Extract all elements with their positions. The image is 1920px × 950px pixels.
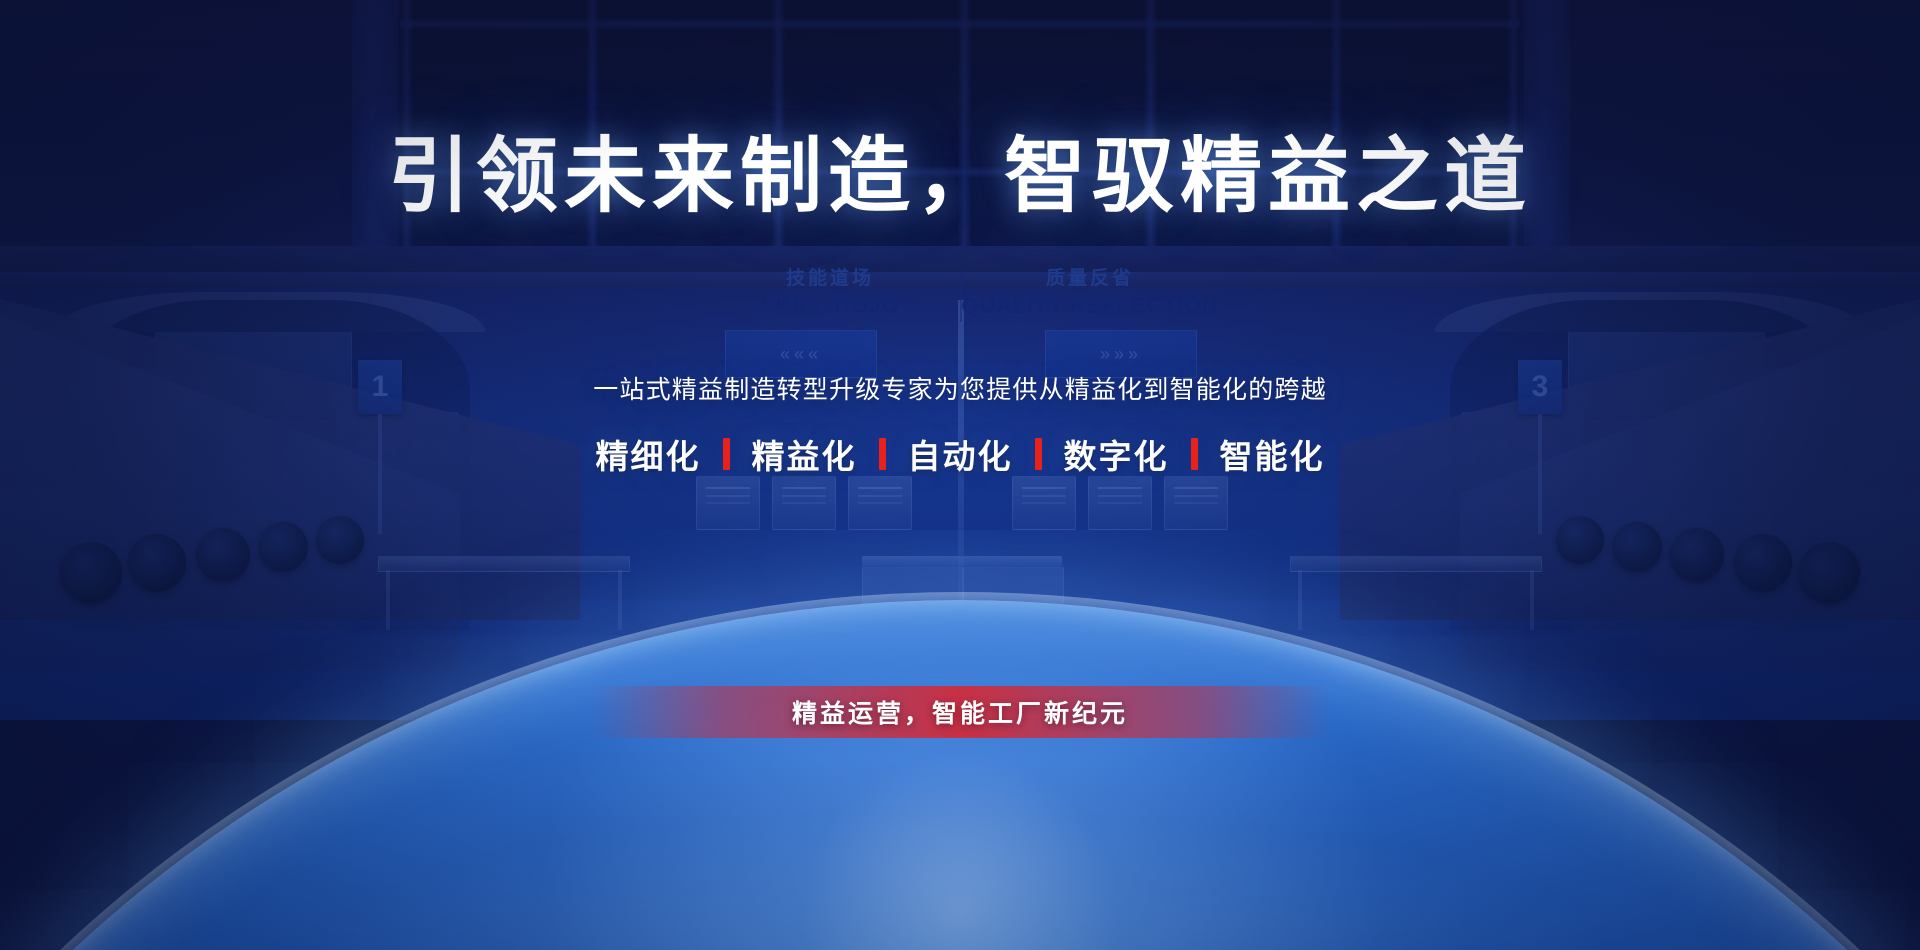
keyword-item-2: 自动化 [886, 430, 1035, 478]
earth-globe-section [0, 530, 1920, 950]
keyword-item-0: 精细化 [574, 430, 723, 478]
keyword-list: 精细化 精益化 自动化 数字化 智能化 [0, 430, 1920, 478]
hero-banner: ENTERPRISE COURSE 创新 GERMANT DOGO 责任 GER… [0, 0, 1920, 950]
keyword-separator-3 [1191, 438, 1198, 470]
keyword-item-1: 精益化 [730, 430, 879, 478]
ribbon-label: 精益运营，智能工厂新纪元 [792, 694, 1128, 730]
earth-atmosphere-glow [10, 610, 1910, 950]
keyword-separator-2 [1035, 438, 1042, 470]
keyword-item-4: 智能化 [1198, 430, 1347, 478]
banner-subtitle: 一站式精益制造转型升级专家为您提供从精益化到智能化的跨越 [0, 370, 1920, 406]
keyword-item-3: 数字化 [1042, 430, 1191, 478]
page-title: 引领未来制造，智驭精益之道 [0, 132, 1920, 222]
keyword-separator-0 [723, 438, 730, 470]
keyword-separator-1 [879, 438, 886, 470]
bottom-ribbon: 精益运营，智能工厂新纪元 [590, 686, 1330, 738]
